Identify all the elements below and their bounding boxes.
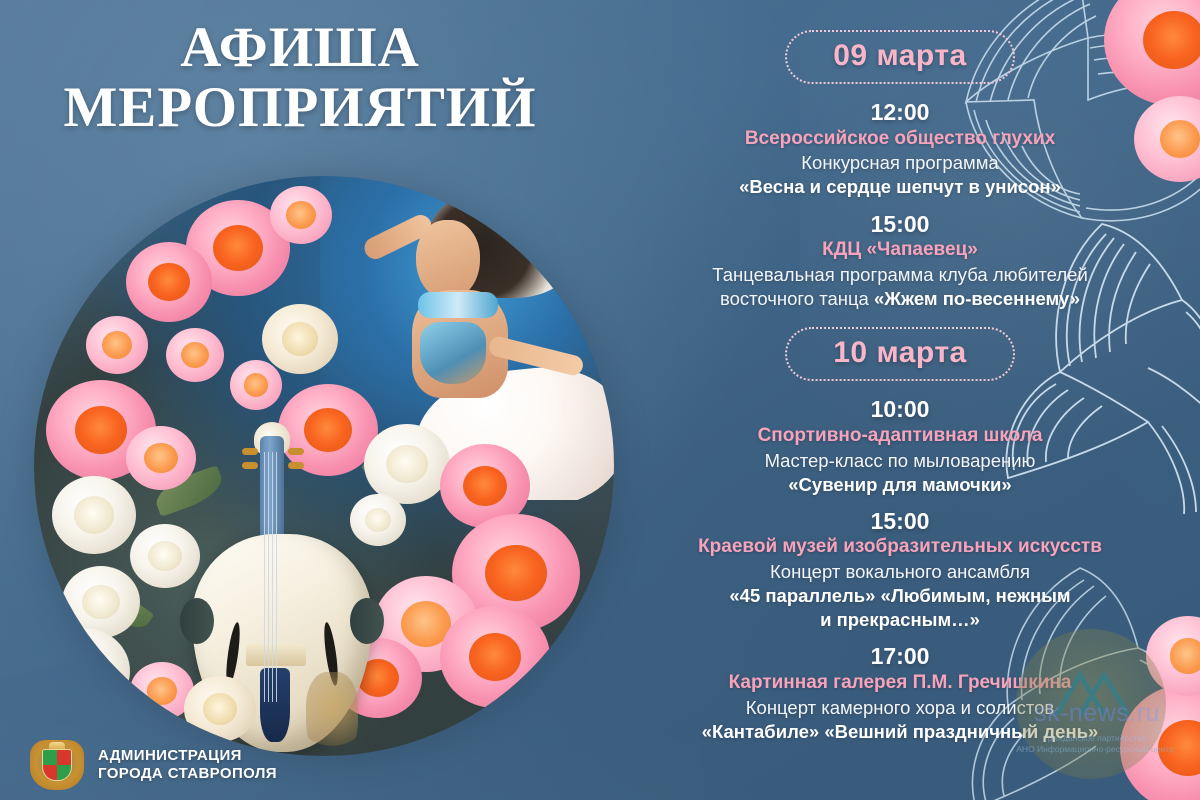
dancer-necklace [418,292,498,318]
crest-quarter [43,750,57,765]
rose [126,242,212,322]
violin-peg [242,448,258,455]
collage-image [34,176,614,756]
event-description: Концерт камерного хора и солистов [600,696,1200,720]
administration-line-2: ГОРОДА СТАВРОПОЛЯ [98,765,277,783]
title-line-1: АФИША [180,16,420,79]
event-description: Танцевальная программа клуба любителей [600,263,1200,287]
event-venue: КДЦ «Чапаевец» [600,238,1200,263]
event-description-part: восточного танца [720,288,874,309]
dancer-face [416,220,480,300]
event-item: 10:00 Спортивно-адаптивная школа Мастер-… [600,395,1200,497]
violin-peg [288,462,304,469]
event-item: 17:00 Картинная галерея П.М. Гречишкина … [600,642,1200,744]
event-venue: Спортивно-адаптивная школа [600,424,1200,449]
violin-waist-right [350,598,384,644]
rose [230,360,282,410]
event-time: 15:00 [600,507,1200,536]
rose [166,328,224,382]
administration-line-1: АДМИНИСТРАЦИЯ [98,747,277,765]
date-badge-day-1: 09 марта [785,30,1015,84]
administration-label: АДМИНИСТРАЦИЯ ГОРОДА СТАВРОПОЛЯ [98,747,277,784]
violin-strings [264,452,280,702]
dancer-bodice [420,322,486,384]
title-line-2: МЕРОПРИЯТИЙ [0,78,600,138]
rose [440,606,550,708]
event-time: 15:00 [600,210,1200,239]
rose [270,186,332,244]
crest-quarter [57,750,71,765]
event-venue: Картинная галерея П.М. Гречишкина [600,671,1200,696]
rose [62,566,140,638]
event-time: 17:00 [600,642,1200,671]
rose [184,676,256,742]
coat-of-arms-icon [30,740,84,790]
violin-peg [288,448,304,455]
event-title: «Сувенир для мамочки» [600,473,1200,497]
event-description-continued: восточного танца «Жжем по-весеннему» [600,287,1200,311]
event-title: «Жжем по-весеннему» [874,288,1080,309]
event-description: Конкурсная программа [600,151,1200,175]
event-title: «Весна и сердце шепчут в унисон» [600,175,1200,199]
event-description: Мастер-класс по мыловарению [600,449,1200,473]
violin-ornament [306,672,358,756]
event-title: «45 параллель» «Любимым, нежным [600,584,1200,608]
event-item: 15:00 Краевой музей изобразительных иску… [600,507,1200,633]
violin-peg [242,462,258,469]
violin-waist-left [180,598,214,644]
schedule-column: 09 марта 12:00 Всероссийское общество гл… [600,0,1200,800]
event-description: Концерт вокального ансамбля [600,560,1200,584]
event-venue: Краевой музей изобразительных искусств [600,535,1200,560]
event-time: 10:00 [600,395,1200,424]
event-title-continued: и прекрасным…» [600,608,1200,632]
crest-shield [42,749,72,781]
event-poster: АФИША МЕРОПРИЯТИЙ [0,0,1200,800]
rose [52,476,136,554]
event-time: 12:00 [600,98,1200,127]
event-venue: Всероссийское общество глухих [600,127,1200,152]
rose [38,628,130,714]
page-title: АФИША МЕРОПРИЯТИЙ [0,18,600,138]
event-item: 15:00 КДЦ «Чапаевец» Танцевальная програ… [600,210,1200,312]
event-item: 12:00 Всероссийское общество глухих Конк… [600,98,1200,200]
rose [262,304,338,374]
event-title: «Кантабиле» «Вешний праздничный день» [600,720,1200,744]
rose [86,316,148,374]
footer-branding: АДМИНИСТРАЦИЯ ГОРОДА СТАВРОПОЛЯ [30,740,277,790]
date-badge-day-2: 10 марта [785,327,1015,381]
